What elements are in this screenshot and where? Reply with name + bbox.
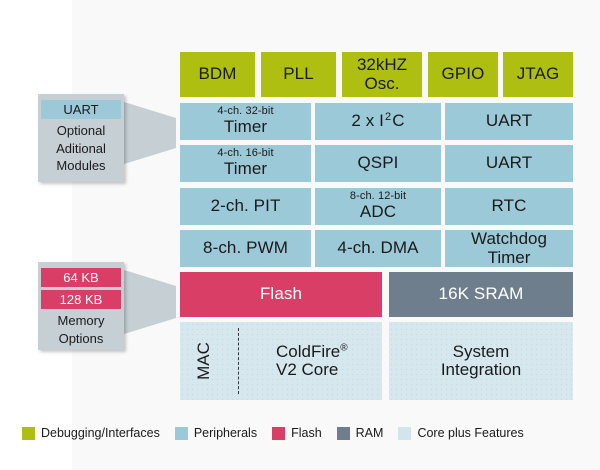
block-watchdog-timer-label-line1: Watchdog [471,230,547,248]
callout-optional-modules-text-line3: Modules [56,157,106,175]
legend-swatch-ram [337,427,350,440]
callout-optional-modules-text-line2: Aditional [56,140,106,158]
legend-label-core: Core plus Features [417,426,523,440]
block-pll-label: PLL [283,65,314,83]
block-coldfire-core-label-line2: V2 Core [276,361,338,379]
block-uart-1[interactable]: UART [445,103,573,140]
block-qspi[interactable]: QSPI [315,145,441,182]
block-32khz-osc-label-line1: 32kHZ [357,56,407,74]
block-flash[interactable]: Flash [180,272,382,317]
block-timer-32bit-label: Timer [224,118,267,136]
block-coldfire-core-label-line1: ColdFire® [276,343,348,361]
legend-swatch-peripherals [175,427,188,440]
block-pwm-label: 8-ch. PWM [203,239,288,257]
block-bdm[interactable]: BDM [180,52,255,97]
block-32khz-osc[interactable]: 32kHZ Osc. [342,52,422,97]
callout-optional-modules-chip[interactable]: UART [41,100,121,119]
block-diagram: BDM PLL 32kHZ Osc. GPIO JTAG 4-ch. 32-bi… [0,0,600,470]
block-jtag-label: JTAG [517,65,560,83]
block-watchdog-timer[interactable]: Watchdog Timer [445,230,573,267]
block-pit[interactable]: 2-ch. PIT [180,188,311,225]
block-sram-label: 16K SRAM [439,285,524,303]
callout-memory-options-chip-128kb[interactable]: 128 KB [41,290,121,309]
block-system-integration[interactable]: System Integration [389,322,573,400]
callout-memory-options-text-line2: Options [58,330,105,348]
block-pwm[interactable]: 8-ch. PWM [180,230,311,267]
legend: Debugging/Interfaces Peripherals Flash R… [22,426,532,440]
legend-label-ram: RAM [356,426,384,440]
block-jtag[interactable]: JTAG [503,52,573,97]
block-dma[interactable]: 4-ch. DMA [315,230,441,267]
block-system-integration-label-line1: System [453,343,510,361]
block-i2c-superscript: 2 [384,111,392,123]
block-sram[interactable]: 16K SRAM [389,272,573,317]
block-mac-label: MAC [194,342,214,380]
callout-memory-options-box[interactable]: 64 KB 128 KB Memory Options [38,262,124,350]
block-watchdog-timer-label-line2: Timer [488,249,531,267]
legend-item-peripherals: Peripherals [175,426,257,440]
legend-item-flash: Flash [272,426,322,440]
block-flash-label: Flash [260,285,302,303]
block-adc[interactable]: 8-ch. 12-bit ADC [315,188,441,225]
legend-label-flash: Flash [291,426,322,440]
block-system-integration-label-line2: Integration [441,361,521,379]
legend-item-core: Core plus Features [398,426,523,440]
block-uart-2[interactable]: UART [445,145,573,182]
callout-memory-options-text-line1: Memory [58,312,105,330]
callout-optional-modules-text: Optional Aditional Modules [56,122,106,175]
callout-memory-options-chip-64kb[interactable]: 64 KB [41,268,121,287]
legend-item-debugging: Debugging/Interfaces [22,426,160,440]
legend-label-peripherals: Peripherals [194,426,257,440]
legend-item-ram: RAM [337,426,384,440]
block-32khz-osc-label-line2: Osc. [365,75,400,93]
block-qspi-label: QSPI [357,154,398,172]
block-uart-1-label: UART [486,112,532,130]
callout-memory-options-text: Memory Options [58,312,105,347]
block-gpio-label: GPIO [442,65,485,83]
block-adc-label: ADC [360,203,396,221]
legend-swatch-flash [272,427,285,440]
block-timer-16bit[interactable]: 4-ch. 16-bit Timer [180,145,311,182]
legend-swatch-debugging [22,427,35,440]
block-timer-16bit-label: Timer [224,160,267,178]
block-bdm-label: BDM [198,65,236,83]
registered-icon: ® [340,342,347,353]
legend-swatch-core [398,427,411,440]
block-timer-32bit[interactable]: 4-ch. 32-bit Timer [180,103,311,140]
block-rtc[interactable]: RTC [445,188,573,225]
block-dma-label: 4-ch. DMA [337,239,418,257]
block-i2c[interactable]: 2 x I2C [315,103,441,140]
legend-label-debugging: Debugging/Interfaces [41,426,160,440]
block-gpio[interactable]: GPIO [428,52,498,97]
mac-divider [238,328,239,394]
callout-optional-modules-box[interactable]: UART Optional Aditional Modules [38,94,124,182]
block-i2c-label: 2 x I2C [351,112,404,130]
callout-optional-modules-text-line1: Optional [56,122,106,140]
block-pll[interactable]: PLL [261,52,336,97]
block-pit-label: 2-ch. PIT [211,197,281,215]
block-mac[interactable]: MAC [180,322,228,400]
block-rtc-label: RTC [492,197,527,215]
block-coldfire-core[interactable]: ColdFire® V2 Core [250,322,382,400]
block-uart-2-label: UART [486,154,532,172]
